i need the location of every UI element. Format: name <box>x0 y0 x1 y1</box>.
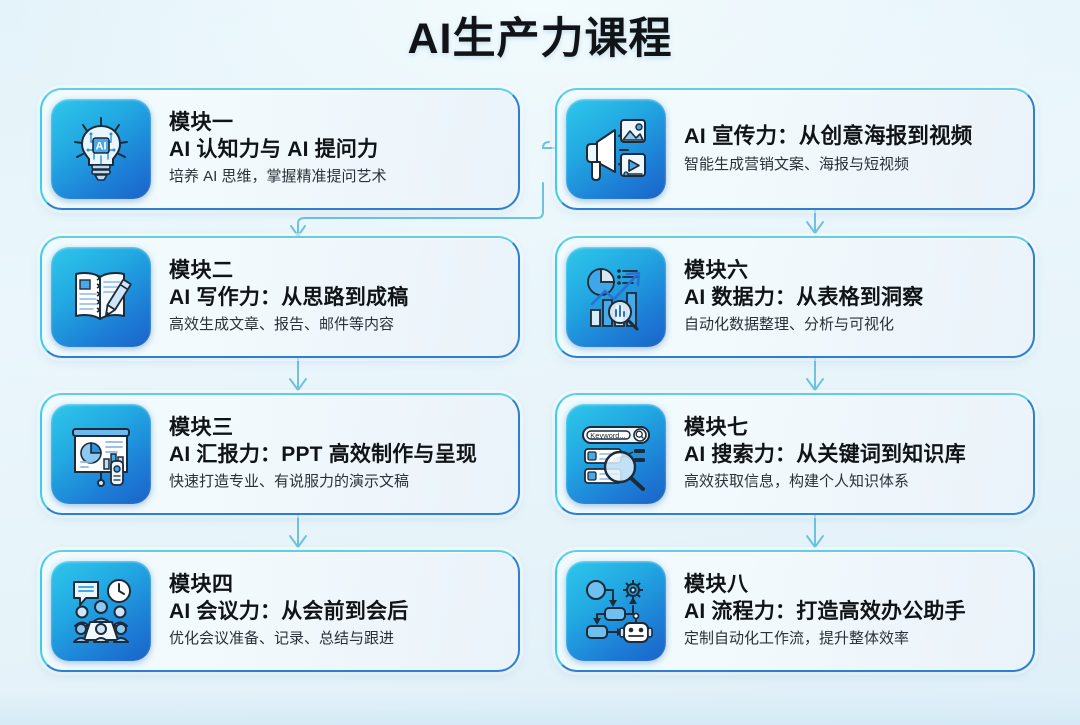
module-card-1[interactable]: AI 模块一 AI 认知力与 AI 提问力 培养 AI 思维，掌握精准提问艺术 <box>40 88 520 210</box>
search-knowledge-icon: Keyword... <box>566 404 666 504</box>
module-description: 高效获取信息，构建个人知识体系 <box>684 471 1019 493</box>
module-description: 智能生成营销文案、海报与短视频 <box>684 154 1019 176</box>
module-card-4-text: 模块四 AI 会议力：从会前到会后 优化会议准备、记录、总结与跟进 <box>151 572 518 650</box>
module-card-5-text: AI 宣传力：从创意海报到视频 智能生成营销文案、海报与短视频 <box>666 123 1033 176</box>
module-number: 模块六 <box>684 258 1019 284</box>
module-card-2[interactable]: 模块二 AI 写作力：从思路到成稿 高效生成文章、报告、邮件等内容 <box>40 236 520 358</box>
module-description: 定制自动化工作流，提升整体效率 <box>684 628 1019 650</box>
module-number: 模块一 <box>169 110 504 136</box>
module-title: AI 流程力：打造高效办公助手 <box>684 598 1019 625</box>
module-card-7[interactable]: Keyword... <box>555 393 1035 515</box>
module-card-8[interactable]: 模块八 AI 流程力：打造高效办公助手 定制自动化工作流，提升整体效率 <box>555 550 1035 672</box>
module-card-3-text: 模块三 AI 汇报力：PPT 高效制作与呈现 快速打造专业、有说服力的演示文稿 <box>151 415 518 493</box>
module-board: AI 模块一 AI 认知力与 AI 提问力 培养 AI 思维，掌握精准提问艺术 <box>40 88 1040 688</box>
module-number: 模块二 <box>169 258 504 284</box>
module-description: 优化会议准备、记录、总结与跟进 <box>169 628 504 650</box>
module-title: AI 数据力：从表格到洞察 <box>684 284 1019 311</box>
page-title: AI生产力课程 <box>408 16 673 63</box>
left-column: AI 模块一 AI 认知力与 AI 提问力 培养 AI 思维，掌握精准提问艺术 <box>40 88 520 688</box>
module-card-4[interactable]: 模块四 AI 会议力：从会前到会后 优化会议准备、记录、总结与跟进 <box>40 550 520 672</box>
module-title: AI 汇报力：PPT 高效制作与呈现 <box>169 441 504 468</box>
right-column: AI 宣传力：从创意海报到视频 智能生成营销文案、海报与短视频 <box>555 88 1035 688</box>
module-card-8-text: 模块八 AI 流程力：打造高效办公助手 定制自动化工作流，提升整体效率 <box>666 572 1033 650</box>
module-description: 自动化数据整理、分析与可视化 <box>684 314 1019 336</box>
module-title: AI 宣传力：从创意海报到视频 <box>684 123 1019 151</box>
module-title: AI 写作力：从思路到成稿 <box>169 284 504 311</box>
bottom-gradient-band <box>0 691 1080 725</box>
module-description: 培养 AI 思维，掌握精准提问艺术 <box>169 166 504 188</box>
module-number: 模块八 <box>684 572 1019 598</box>
module-number: 模块四 <box>169 572 504 598</box>
module-card-2-text: 模块二 AI 写作力：从思路到成稿 高效生成文章、报告、邮件等内容 <box>151 258 518 336</box>
module-card-6[interactable]: 模块六 AI 数据力：从表格到洞察 自动化数据整理、分析与可视化 <box>555 236 1035 358</box>
module-title: AI 搜索力：从关键词到知识库 <box>684 441 1019 468</box>
module-card-5[interactable]: AI 宣传力：从创意海报到视频 智能生成营销文案、海报与短视频 <box>555 88 1035 210</box>
megaphone-media-icon <box>566 99 666 199</box>
page-title-container: AI生产力课程 <box>0 16 1080 63</box>
workflow-robot-icon <box>566 561 666 661</box>
search-keyword-label: Keyword... <box>590 431 625 440</box>
module-description: 高效生成文章、报告、邮件等内容 <box>169 314 504 336</box>
module-description: 快速打造专业、有说服力的演示文稿 <box>169 471 504 493</box>
module-card-7-text: 模块七 AI 搜索力：从关键词到知识库 高效获取信息，构建个人知识体系 <box>666 415 1033 493</box>
module-card-3[interactable]: 模块三 AI 汇报力：PPT 高效制作与呈现 快速打造专业、有说服力的演示文稿 <box>40 393 520 515</box>
module-number: 模块七 <box>684 415 1019 441</box>
module-title: AI 会议力：从会前到会后 <box>169 598 504 625</box>
meeting-people-icon <box>51 561 151 661</box>
presentation-board-icon <box>51 404 151 504</box>
module-number: 模块三 <box>169 415 504 441</box>
notebook-pen-icon <box>51 247 151 347</box>
module-title: AI 认知力与 AI 提问力 <box>169 136 504 163</box>
module-card-1-text: 模块一 AI 认知力与 AI 提问力 培养 AI 思维，掌握精准提问艺术 <box>151 110 518 188</box>
chart-analytics-icon <box>566 247 666 347</box>
module-card-6-text: 模块六 AI 数据力：从表格到洞察 自动化数据整理、分析与可视化 <box>666 258 1033 336</box>
svg-text:AI: AI <box>96 141 107 153</box>
lightbulb-ai-icon: AI <box>51 99 151 199</box>
